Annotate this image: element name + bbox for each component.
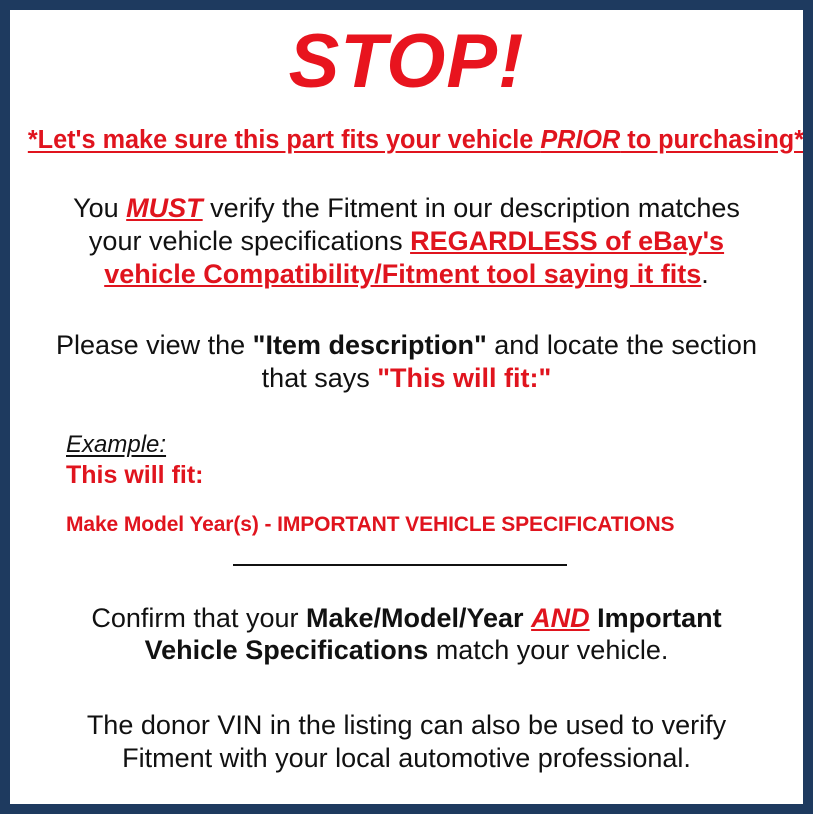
item-description-emphasis: "Item description" xyxy=(253,330,487,360)
example-block: Example: This will fit: Make Model Year(… xyxy=(22,431,791,538)
make-model-year-emphasis: Make/Model/Year xyxy=(306,603,524,633)
example-fit-heading: This will fit: xyxy=(66,460,791,490)
subtitle-prior-emphasis: PRIOR xyxy=(540,126,620,154)
example-label: Example: xyxy=(66,431,166,459)
this-will-fit-quote: "This will fit:" xyxy=(377,363,551,393)
locate-text-1: Please view the xyxy=(56,330,253,360)
must-emphasis: MUST xyxy=(126,193,203,223)
locate-paragraph: Please view the "Item description" and l… xyxy=(22,329,791,395)
example-spec-line: Make Model Year(s) - IMPORTANT VEHICLE S… xyxy=(66,512,791,537)
subtitle-banner: *Let's make sure this part fits your veh… xyxy=(26,126,787,156)
vin-paragraph: The donor VIN in the listing can also be… xyxy=(22,709,791,775)
confirm-paragraph: Confirm that your Make/Model/Year AND Im… xyxy=(22,602,791,668)
subtitle-prefix: *Let's make sure this part fits your veh… xyxy=(28,126,540,154)
section-divider xyxy=(233,564,567,566)
confirm-space-1 xyxy=(524,603,532,633)
section-divider-wrap xyxy=(22,560,791,572)
stop-headline: STOP! xyxy=(22,24,791,100)
verify-text-3: . xyxy=(701,259,709,289)
confirm-space-2 xyxy=(590,603,598,633)
and-emphasis: AND xyxy=(531,603,590,633)
subtitle-suffix: to purchasing* xyxy=(620,126,804,154)
verify-paragraph: You MUST verify the Fitment in our descr… xyxy=(22,192,791,291)
fitment-notice-card: STOP! *Let's make sure this part fits yo… xyxy=(0,0,813,814)
confirm-text-1: Confirm that your xyxy=(91,603,306,633)
notice-content: STOP! *Let's make sure this part fits yo… xyxy=(10,10,803,804)
confirm-text-3: match your vehicle. xyxy=(428,635,668,665)
example-label-row: Example: xyxy=(66,431,791,459)
closing-thank-you: Thank you for confirming Fitment! xyxy=(22,799,791,814)
verify-text-1: You xyxy=(73,193,126,223)
